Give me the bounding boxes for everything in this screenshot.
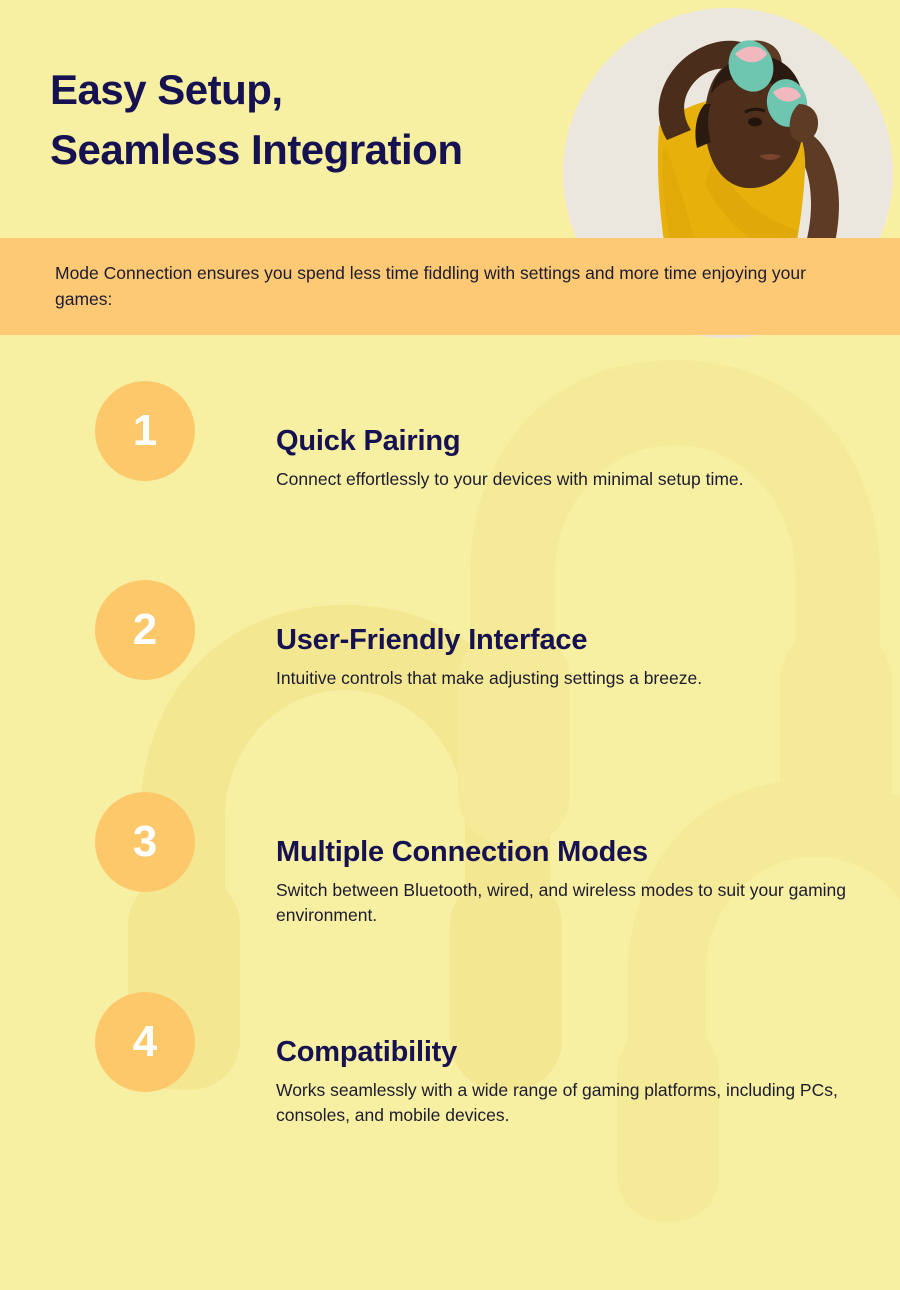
step-badge-2: 2 [95, 580, 195, 680]
step-badge-1: 1 [95, 381, 195, 481]
list-item-description: Works seamlessly with a wide range of ga… [276, 1078, 854, 1128]
step-badge-4: 4 [95, 992, 195, 1092]
list-item-title: Multiple Connection Modes [276, 836, 854, 869]
list-item-description: Switch between Bluetooth, wired, and wir… [276, 878, 854, 928]
step-badge-3: 3 [95, 792, 195, 892]
list-item-description: Connect effortlessly to your devices wit… [276, 467, 744, 492]
list-item-title: User-Friendly Interface [276, 624, 702, 657]
list-item-description: Intuitive controls that make adjusting s… [276, 666, 702, 691]
list-item-title: Quick Pairing [276, 425, 744, 458]
page-title: Easy Setup, Seamless Integration [50, 60, 462, 179]
list-item-title: Compatibility [276, 1036, 854, 1069]
intro-banner-text: Mode Connection ensures you spend less t… [55, 261, 840, 312]
intro-banner: Mode Connection ensures you spend less t… [0, 238, 900, 335]
header: Easy Setup, Seamless Integration [0, 0, 900, 238]
